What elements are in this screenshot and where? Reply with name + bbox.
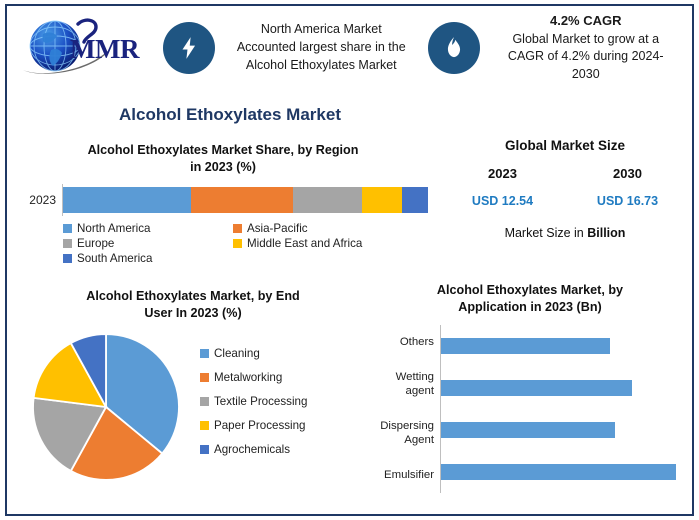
page-title: Alcohol Ethoxylates Market [0,105,460,125]
application-bar-row [441,422,688,438]
end-user-title-line2: User In 2023 (%) [18,305,368,322]
legend-swatch [200,349,209,358]
stat-north-america-text: North America Market Accounted largest s… [215,21,428,74]
region-bar-segments [63,184,428,216]
region-chart-plot: 2023 [18,184,428,216]
stat-cagr: 4.2% CAGR Global Market to grow at a CAG… [428,6,693,90]
flame-icon [428,22,480,74]
legend-label: North America [77,222,150,235]
stat-na-line3: Alcohol Ethoxylates Market [219,57,424,75]
gms-years: 2023 2030 [440,166,690,181]
end-user-title-line1: Alcohol Ethoxylates Market, by End [18,288,368,305]
brand-name: MMR [70,34,139,65]
legend-label: Europe [77,237,114,250]
stat-cagr-text: 4.2% CAGR Global Market to grow at a CAG… [480,12,693,84]
stat-cagr-line2: CAGR of 4.2% during 2024- [484,48,689,66]
end-user-chart: Alcohol Ethoxylates Market, by End User … [18,288,368,483]
application-chart-title: Alcohol Ethoxylates Market, by Applicati… [372,282,688,315]
application-chart-plot: OthersWettingagentDispersingAgentEmulsif… [372,325,688,493]
application-bar [441,422,615,438]
region-segment [191,187,293,213]
pie-legend-item: Textile Processing [200,395,368,408]
pie-legend-item: Cleaning [200,347,368,360]
application-bar [441,380,632,396]
pie-legend: CleaningMetalworkingTextile ProcessingPa… [186,347,368,467]
application-bars [441,325,688,493]
lightning-bolt-icon [163,22,215,74]
mmr-logo: MMR [15,12,163,84]
gms-year-left: 2023 [488,166,517,181]
region-legend-item: North America [63,222,233,235]
application-title-line2: Application in 2023 (Bn) [372,299,688,316]
legend-swatch [200,445,209,454]
header: MMR North America Market Accounted large… [7,6,692,90]
region-title-line2: in 2023 (%) [18,159,428,176]
application-title-line1: Alcohol Ethoxylates Market, by [372,282,688,299]
legend-swatch [200,397,209,406]
gms-values: USD 12.54 USD 16.73 [440,194,690,208]
pie-legend-item: Metalworking [200,371,368,384]
application-category-label: Others [372,336,434,350]
stat-na-line2: Accounted largest share in the [219,39,424,57]
region-share-chart: Alcohol Ethoxylates Market Share, by Reg… [18,142,428,265]
region-legend: North AmericaAsia-PacificEuropeMiddle Ea… [63,222,428,265]
gms-year-right: 2030 [613,166,642,181]
legend-swatch [233,224,242,233]
application-category-label: Wettingagent [372,371,434,398]
pie-legend-item: Agrochemicals [200,443,368,456]
legend-label: Agrochemicals [214,443,290,456]
region-legend-item: Middle East and Africa [233,237,428,250]
gms-footer: Market Size in Billion [440,226,690,240]
pie-row: CleaningMetalworkingTextile ProcessingPa… [18,331,368,483]
stat-cagr-line3: 2030 [484,66,689,84]
region-segment [293,187,362,213]
region-axis-label: 2023 [18,184,62,216]
legend-swatch [200,421,209,430]
region-legend-item: Asia-Pacific [233,222,428,235]
legend-label: Cleaning [214,347,260,360]
gms-title: Global Market Size [440,138,690,153]
infographic-root: MMR North America Market Accounted large… [0,0,699,520]
application-category-label: DispersingAgent [372,420,434,447]
region-segment [402,187,428,213]
region-legend-item: Europe [63,237,233,250]
legend-label: Paper Processing [214,419,306,432]
legend-swatch [63,224,72,233]
legend-label: Metalworking [214,371,282,384]
region-legend-item: South America [63,252,233,265]
region-chart-title: Alcohol Ethoxylates Market Share, by Reg… [18,142,428,175]
application-bar [441,338,610,354]
legend-swatch [63,254,72,263]
legend-label: Middle East and Africa [247,237,362,250]
region-segment [63,187,191,213]
legend-label: Textile Processing [214,395,307,408]
pie-legend-item: Paper Processing [200,419,368,432]
legend-swatch [200,373,209,382]
gms-footer-prefix: Market Size in [505,226,588,240]
application-bar [441,464,676,480]
stat-cagr-line1: Global Market to grow at a [484,31,689,49]
application-bar-row [441,338,688,354]
region-title-line1: Alcohol Ethoxylates Market Share, by Reg… [18,142,428,159]
gms-value-left: USD 12.54 [472,194,533,208]
application-category-label: Emulsifier [372,469,434,483]
stat-na-line1: North America Market [219,21,424,39]
legend-label: South America [77,252,152,265]
gms-footer-unit: Billion [587,226,625,240]
region-segment [362,187,402,213]
pie-chart [26,331,186,483]
end-user-chart-title: Alcohol Ethoxylates Market, by End User … [18,288,368,321]
application-bar-row [441,464,688,480]
legend-swatch [63,239,72,248]
application-category-labels: OthersWettingagentDispersingAgentEmulsif… [372,325,440,493]
legend-swatch [233,239,242,248]
global-market-size-panel: Global Market Size 2023 2030 USD 12.54 U… [440,138,690,240]
stat-cagr-headline: 4.2% CAGR [484,12,689,30]
application-bar-row [441,380,688,396]
legend-label: Asia-Pacific [247,222,308,235]
application-chart: Alcohol Ethoxylates Market, by Applicati… [372,282,688,493]
gms-value-right: USD 16.73 [597,194,658,208]
stat-north-america: North America Market Accounted largest s… [163,6,428,90]
